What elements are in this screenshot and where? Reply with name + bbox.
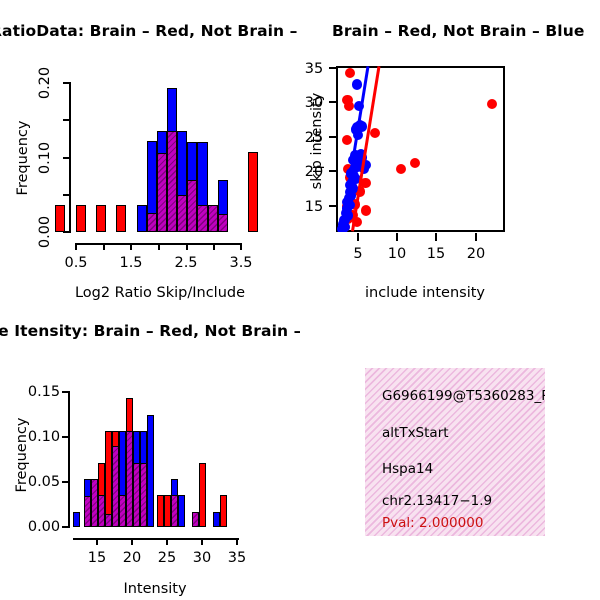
panel-intensity-histogram: ne Itensity: Brain – Red, Not Brain – B … (0, 300, 300, 600)
hist-bar-9-overlap (140, 463, 147, 527)
info-line-probe-id: G6966199@T5360283_R (382, 388, 545, 404)
hist-bar-13-red (248, 152, 258, 232)
intensity-histogram-bars (0, 300, 300, 600)
hist-bar-10-overlap (197, 205, 207, 232)
hist-bar-3-red (116, 205, 126, 232)
scatter-x-ticklabel-5: 5 (340, 246, 376, 262)
scatter-x-tick-15 (435, 233, 437, 241)
ratio-histogram-bars (0, 0, 300, 300)
hist-bar-7-overlap (126, 431, 133, 527)
hist-bar-1-overlap (84, 496, 91, 527)
hist-bar-13-overlap (171, 495, 178, 527)
hist-bar-8-overlap (177, 195, 187, 232)
hist-bar-16-red (199, 463, 206, 527)
scatter-x-ticklabel-20: 20 (458, 246, 494, 262)
info-line-pval: Pval: 2.000000 (382, 515, 483, 531)
scatter-point-red-0 (345, 68, 355, 78)
scatter-point-red-4 (370, 128, 380, 138)
hist-bar-5-overlap (112, 446, 119, 527)
hist-bar-4-blue (137, 205, 147, 232)
panel-ratio-histogram: RatioData: Brain – Red, Not Brain – Blu … (0, 0, 300, 310)
scatter-y-axis-label: skip intensity (309, 91, 325, 191)
scatter-x-tick-20 (475, 233, 477, 241)
hist-bar-7-overlap (167, 131, 177, 232)
hist-bar-6-overlap (157, 153, 167, 232)
hist-bar-10-blue (147, 415, 154, 527)
info-line-event-type: altTxStart (382, 425, 449, 441)
hist-bar-2-overlap (91, 479, 98, 527)
panel-scatter: Brain – Red, Not Brain – Blue 35 30 25 2… (300, 0, 600, 310)
scatter-x-ticklabel-10: 10 (379, 246, 415, 262)
hist-bar-11-overlap (208, 205, 218, 232)
hist-bar-1-red (76, 205, 86, 232)
scatter-x-ticklabel-15: 15 (418, 246, 454, 262)
hist-bar-2-red (96, 205, 106, 232)
hist-bar-4-overlap (105, 514, 112, 527)
hist-bar-15-overlap (192, 512, 199, 527)
scatter-point-red-3 (342, 135, 352, 145)
scatter-y-ticklabel-15: 15 (297, 199, 331, 215)
scatter-point-blue-0 (352, 79, 362, 89)
hist-bar-9-overlap (187, 180, 197, 232)
scatter-title: Brain – Red, Not Brain – Blue (332, 22, 584, 40)
info-line-locus: chr2.13417−1.9 (382, 493, 492, 509)
scatter-point-red-7 (396, 164, 406, 174)
hist-bar-11-red (157, 495, 164, 527)
annotation-info-box: G6966199@T5360283_R altTxStart Hspa14 ch… (365, 368, 545, 536)
hist-bar-14-blue (178, 495, 185, 527)
scatter-point-red-2 (344, 101, 354, 111)
hist-bar-6-overlap (119, 495, 126, 527)
hist-bar-0-blue (73, 512, 80, 527)
scatter-y-ticklabel-35: 35 (297, 61, 331, 77)
scatter-point-red-6 (410, 158, 420, 168)
scatter-x-tick-10 (396, 233, 398, 241)
scatter-point-red-13 (361, 205, 371, 215)
hist-bar-4-red (105, 431, 112, 527)
scatter-points-layer (336, 66, 505, 232)
hist-bar-12-overlap (218, 214, 228, 232)
info-box-clip: G6966199@T5360283_R altTxStart Hspa14 ch… (365, 368, 545, 536)
hist-bar-8-overlap (133, 463, 140, 527)
scatter-point-red-5 (487, 99, 497, 109)
hist-bar-12-red (164, 495, 171, 527)
hist-bar-3-overlap (98, 495, 105, 527)
hist-bar-17-blue (213, 512, 220, 527)
info-line-gene-symbol: Hspa14 (382, 461, 433, 477)
hist-bar-0-red (55, 205, 65, 232)
scatter-x-axis-label: include intensity (340, 285, 510, 301)
hist-bar-18-red (220, 495, 227, 527)
hist-bar-5-overlap (147, 213, 157, 232)
scatter-x-tick-5 (357, 233, 359, 241)
